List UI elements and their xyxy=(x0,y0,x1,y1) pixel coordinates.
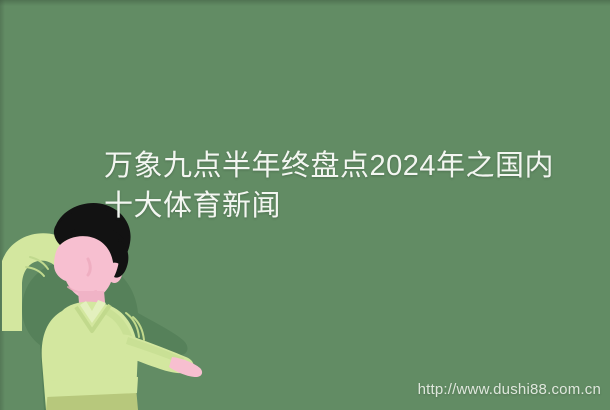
top-edge-gradient xyxy=(0,0,610,6)
site-url-watermark: http://www.dushi88.com.cn xyxy=(418,381,601,398)
article-cover-canvas: 万象九点半年终盘点2024年之国内十大体育新闻 http://www.dushi… xyxy=(0,0,610,410)
person-scratching-head-illustration xyxy=(0,195,210,410)
page-title: 万象九点半年终盘点2024年之国内十大体育新闻 xyxy=(104,146,554,226)
